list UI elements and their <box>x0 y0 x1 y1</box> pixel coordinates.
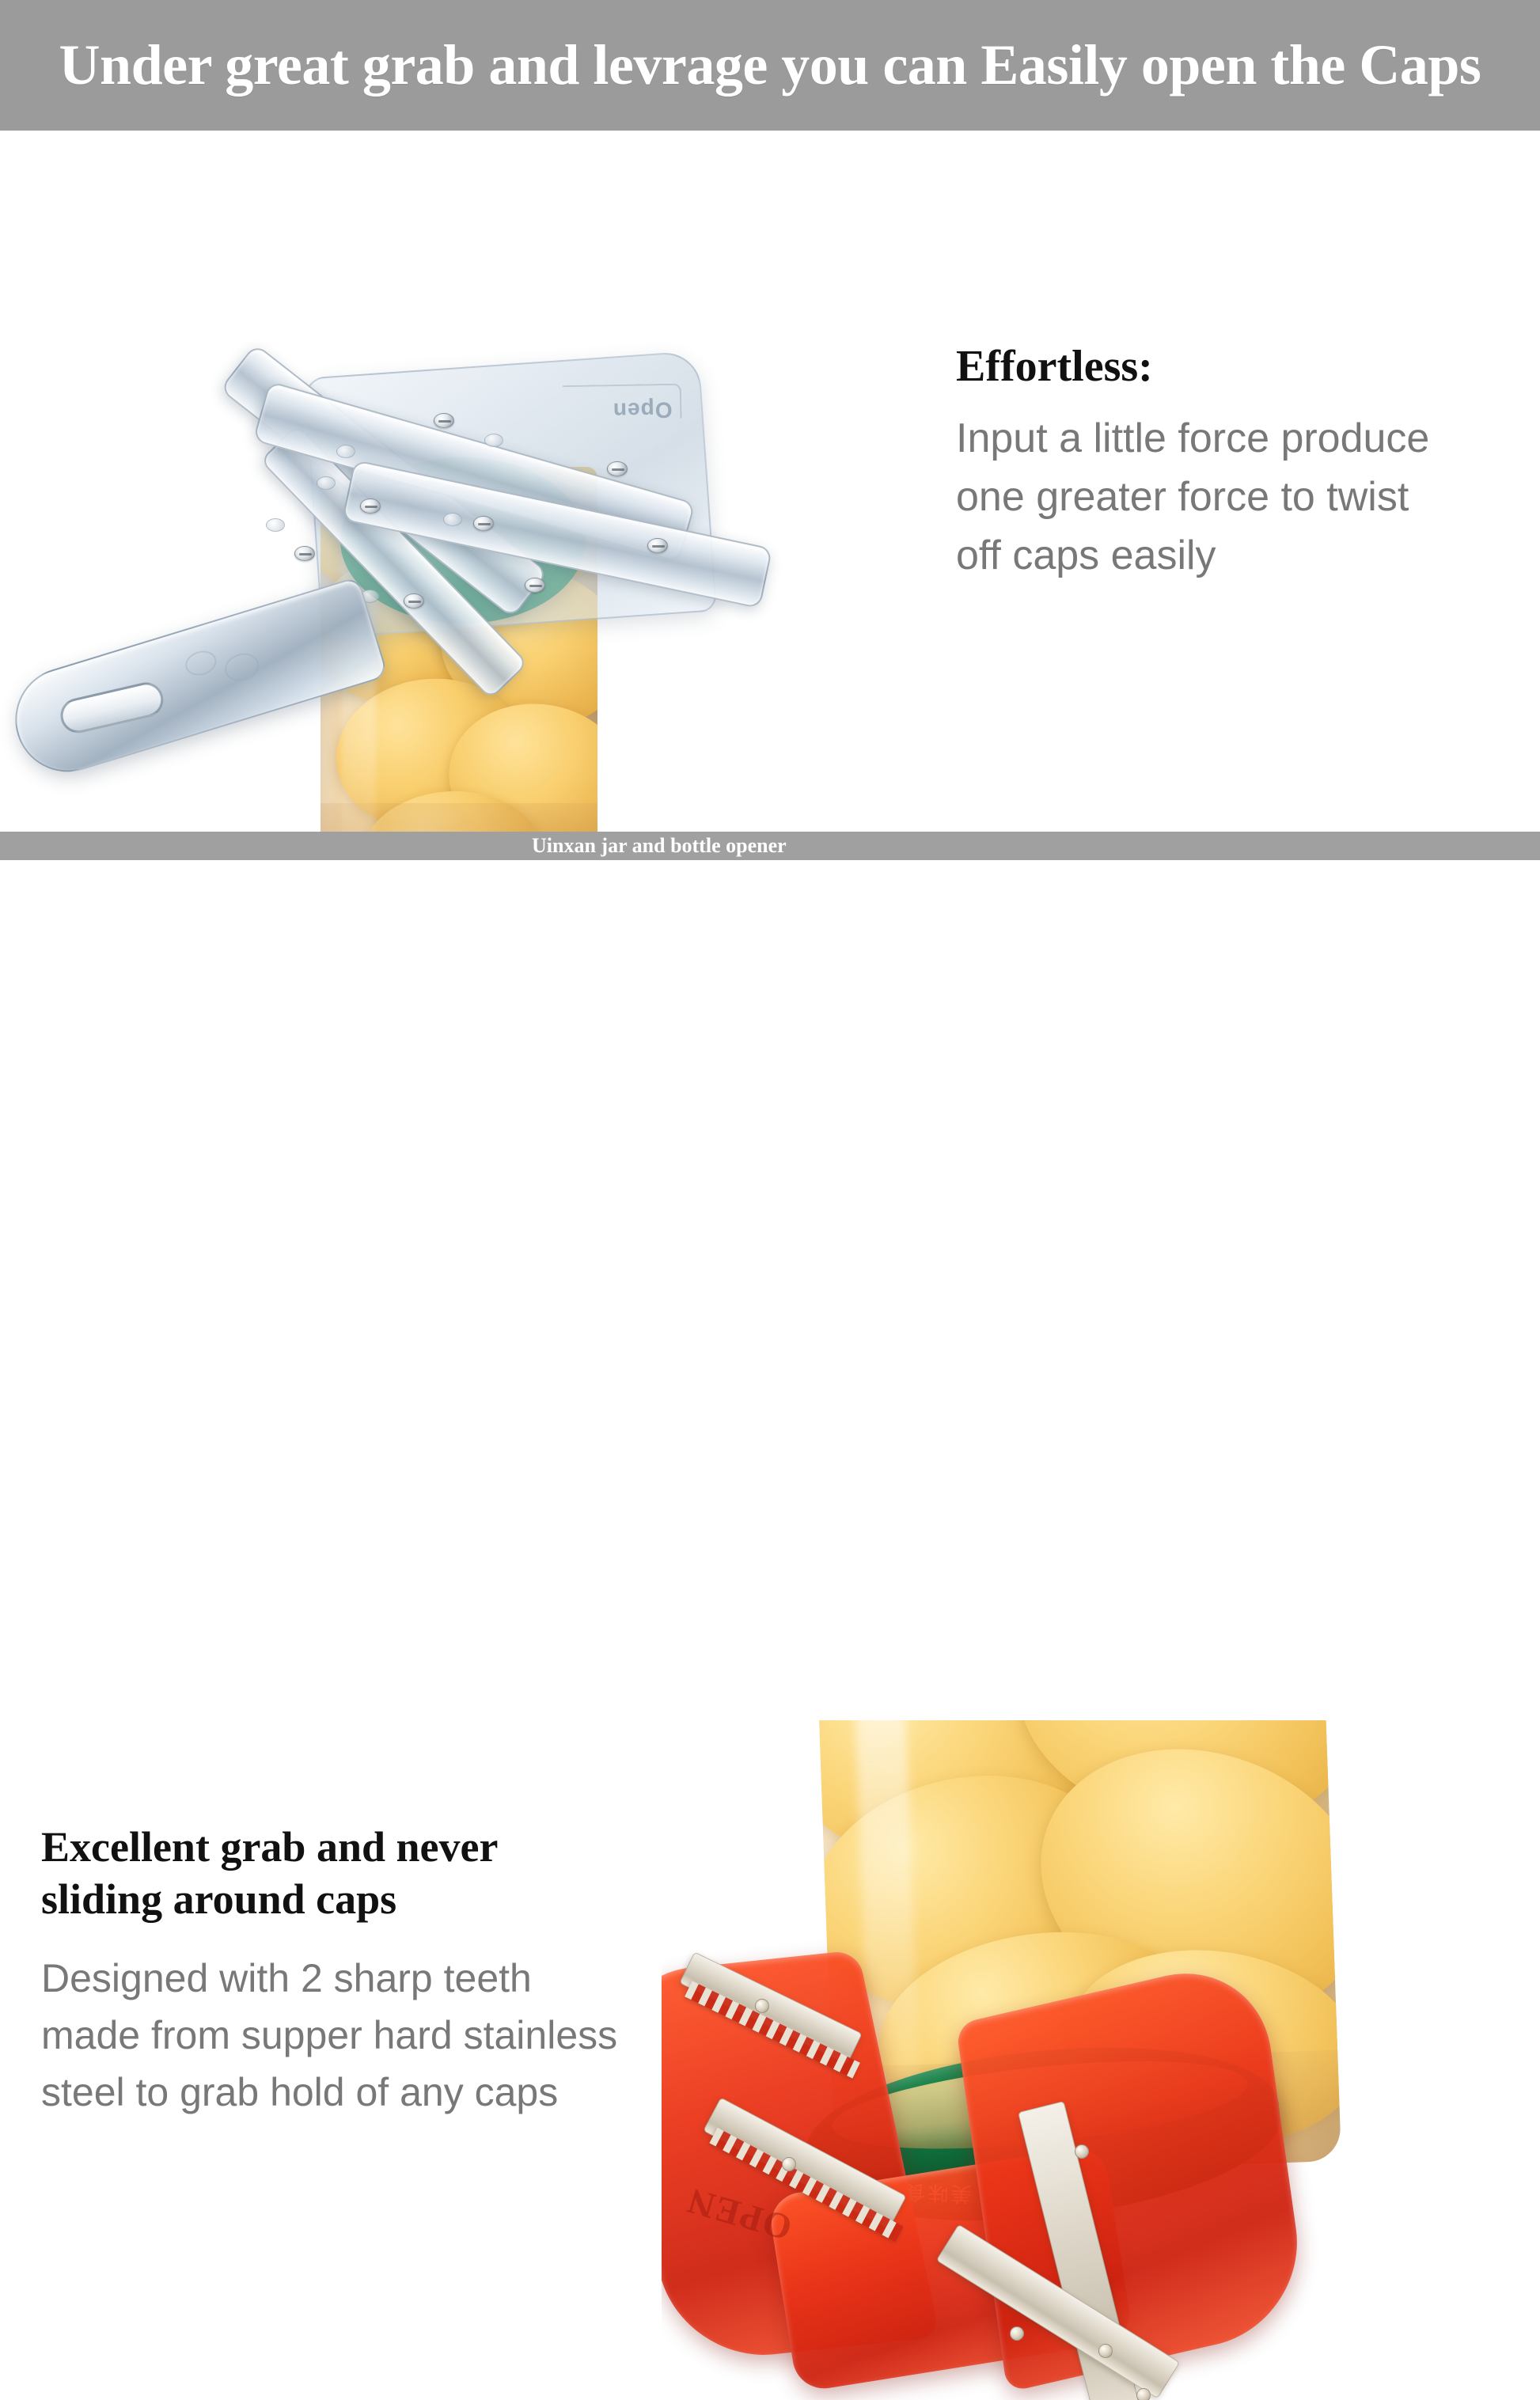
stud-icon <box>484 434 503 447</box>
excellent-grab-text-block: Excellent grab and never sliding around … <box>41 1822 769 2121</box>
open-emboss-label: Open <box>613 396 673 423</box>
rivet-icon <box>1010 2326 1024 2341</box>
handle-hang-hole <box>57 679 167 737</box>
heading-line: Excellent grab and never <box>41 1822 769 1874</box>
handle-grip-dot <box>182 647 219 679</box>
section-excellent-grab: 平果罐头 美味食品 OPEN Excellent grab and never … <box>0 860 1540 1540</box>
rivet-icon <box>1098 2344 1113 2358</box>
body-line: off caps easily <box>956 527 1526 586</box>
stud-icon <box>336 445 355 458</box>
section-effortless: Open <box>0 131 1540 832</box>
screw-icon <box>525 578 545 593</box>
red-arm-right <box>956 1955 1310 2392</box>
red-opener-tool[interactable]: OPEN <box>662 1932 1358 2375</box>
body-line: Designed with 2 sharp teeth <box>41 1950 769 2007</box>
screw-icon <box>434 413 454 428</box>
screw-icon <box>607 461 628 476</box>
watermark-banner: Uinxan jar and bottle opener <box>0 832 1540 860</box>
rivet-icon <box>755 1999 769 2013</box>
opener-handle[interactable] <box>2 576 389 785</box>
page-title: Under great grab and levrage you can Eas… <box>59 32 1481 98</box>
screw-icon <box>294 546 315 561</box>
excellent-grab-body: Designed with 2 sharp teeth made from su… <box>41 1950 769 2121</box>
product-photo-red-opener: 平果罐头 美味食品 OPEN <box>662 1720 1540 2400</box>
body-line: made from supper hard stainless <box>41 2007 769 2064</box>
body-line: one greater force to twist <box>956 468 1526 527</box>
heading-line: sliding around caps <box>41 1874 769 1926</box>
screw-icon <box>404 593 424 609</box>
excellent-grab-heading: Excellent grab and never sliding around … <box>41 1822 769 1926</box>
rivet-icon <box>1075 2144 1089 2159</box>
body-line: steel to grab hold of any caps <box>41 2064 769 2121</box>
stud-icon <box>317 476 336 490</box>
stud-icon <box>266 518 285 532</box>
effortless-heading: Effortless: <box>956 340 1526 392</box>
stud-icon <box>443 513 462 526</box>
effortless-text-block: Effortless: Input a little force produce… <box>956 340 1526 586</box>
body-line: Input a little force produce <box>956 410 1526 468</box>
handle-grip-dot <box>222 649 263 684</box>
rivet-icon <box>782 2157 796 2171</box>
rivet-icon <box>1136 2388 1151 2400</box>
header-banner: Under great grab and levrage you can Eas… <box>0 0 1540 131</box>
screw-icon <box>360 499 381 514</box>
screw-icon <box>647 538 668 553</box>
effortless-body: Input a little force produce one greater… <box>956 410 1526 585</box>
brand-watermark: Uinxan jar and bottle opener <box>532 834 787 858</box>
screw-icon <box>473 516 494 531</box>
